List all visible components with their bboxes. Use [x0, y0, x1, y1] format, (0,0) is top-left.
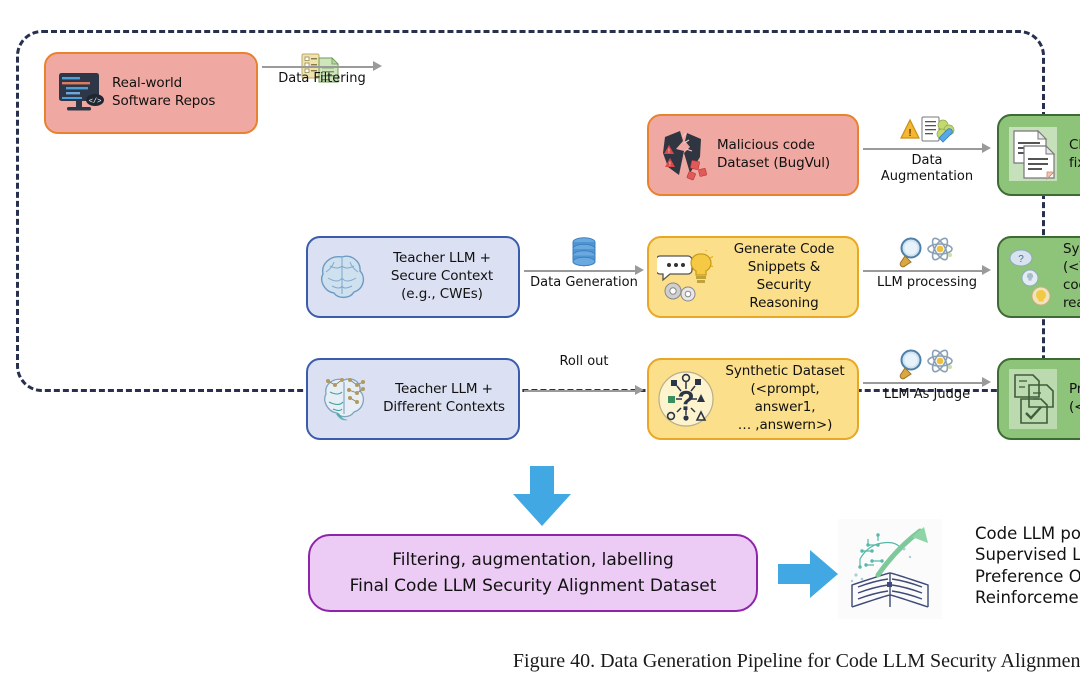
node-preference-dataset[interactable]: Preference Dataset (<prompt, chosen, rej…: [997, 358, 1080, 440]
node-final-dataset[interactable]: Filtering, augmentation, labelling Final…: [308, 534, 758, 612]
blue-down-arrow-icon: [507, 466, 577, 532]
node-label: Synthetic Dataset (<Vulnerable code, sec…: [1063, 241, 1080, 312]
node-label: Preference Dataset (<prompt, chosen, rej…: [1069, 381, 1080, 417]
checklist-document-icon: Data Filtering: [262, 42, 382, 84]
connector-llm-as-judge: LLM As Judge: [863, 358, 991, 420]
magnifier-atom-icon: [863, 338, 991, 380]
broken-shield-warning-icon: !!: [657, 127, 711, 183]
connector-data-generation: Data Generation: [524, 246, 644, 308]
connector-roll-out: Roll out: [524, 358, 644, 420]
connector-data-filtering: Data Filtering !!: [262, 62, 382, 124]
connector-llm-processing: LLM processing: [863, 246, 991, 308]
post-training-text: Code LLM post-training: Supervised Learn…: [975, 523, 1080, 609]
database-icon: [524, 226, 644, 268]
connector-label: Data Augmentation: [863, 153, 991, 184]
node-label: Malicious code Dataset (BugVul): [717, 137, 849, 173]
svg-text:</>: </>: [89, 98, 102, 106]
documents-icon: [1007, 125, 1063, 185]
question-network-icon: ?: [657, 368, 715, 430]
node-label: Synthetic Dataset (<prompt, answer1, … ,…: [721, 363, 849, 434]
figure-caption: Figure 40. Data Generation Pipeline for …: [262, 650, 1080, 673]
figure-canvas: </> Real-world Software Repos: [0, 0, 1080, 629]
connector-label: Data Generation: [524, 275, 644, 291]
node-synthetic-dataset-vulnerable[interactable]: ? Synthetic Dataset (<Vulnerable code, s…: [997, 236, 1080, 318]
node-label: Real-world Software Repos: [112, 75, 248, 111]
node-teacher-llm-secure-context[interactable]: Teacher LLM + Secure Context (e.g., CWEs…: [306, 236, 520, 318]
node-label: Teacher LLM + Secure Context (e.g., CWEs…: [374, 250, 510, 303]
node-label: Teacher LLM + Different Contexts: [378, 381, 510, 417]
connector-label: LLM As Judge: [863, 387, 991, 403]
connector-label: Data Filtering: [262, 71, 382, 87]
svg-text:!: !: [908, 128, 911, 139]
node-teacher-llm-different-contexts[interactable]: Teacher LLM + Different Contexts: [306, 358, 520, 440]
node-malicious-code-dataset[interactable]: !! Malicious code Dataset (BugVul): [647, 114, 859, 196]
brain-icon: [316, 252, 368, 302]
magnifier-atom-icon: [863, 226, 991, 268]
book-brain-arrow-icon: [838, 519, 942, 619]
node-label: Cleaned <Vulnerable_code, fixed_code> Pa…: [1069, 137, 1080, 173]
stacked-docs-check-icon: [1007, 367, 1063, 431]
monitor-code-icon: </>: [54, 69, 106, 117]
connector-label: Roll out: [524, 354, 644, 370]
warning-document-tools-icon: !: [863, 104, 991, 146]
brain-network-icon: [316, 372, 372, 426]
final-dataset-line-2: Final Code LLM Security Alignment Datase…: [350, 576, 717, 596]
node-synthetic-dataset-prompt[interactable]: ? Synthetic Dataset (<prompt, answer1,: [647, 358, 859, 440]
node-generate-code-snippets[interactable]: Generate Code Snippets & Security Reason…: [647, 236, 859, 318]
node-cleaned-pairs[interactable]: Cleaned <Vulnerable_code, fixed_code> Pa…: [997, 114, 1080, 196]
connector-label: LLM processing: [863, 275, 991, 291]
node-label: Generate Code Snippets & Security Reason…: [719, 241, 849, 312]
svg-text:?: ?: [1018, 254, 1024, 265]
final-dataset-line-1: Filtering, augmentation, labelling: [392, 550, 674, 570]
chat-bulb-gears-icon: [657, 250, 713, 304]
blue-right-arrow-icon: [778, 546, 840, 606]
node-real-world-software-repos[interactable]: </> Real-world Software Repos: [44, 52, 258, 134]
thought-bubbles-icon: ?: [1007, 246, 1057, 308]
connector-data-augmentation: ! Data Augmentation: [863, 124, 991, 186]
